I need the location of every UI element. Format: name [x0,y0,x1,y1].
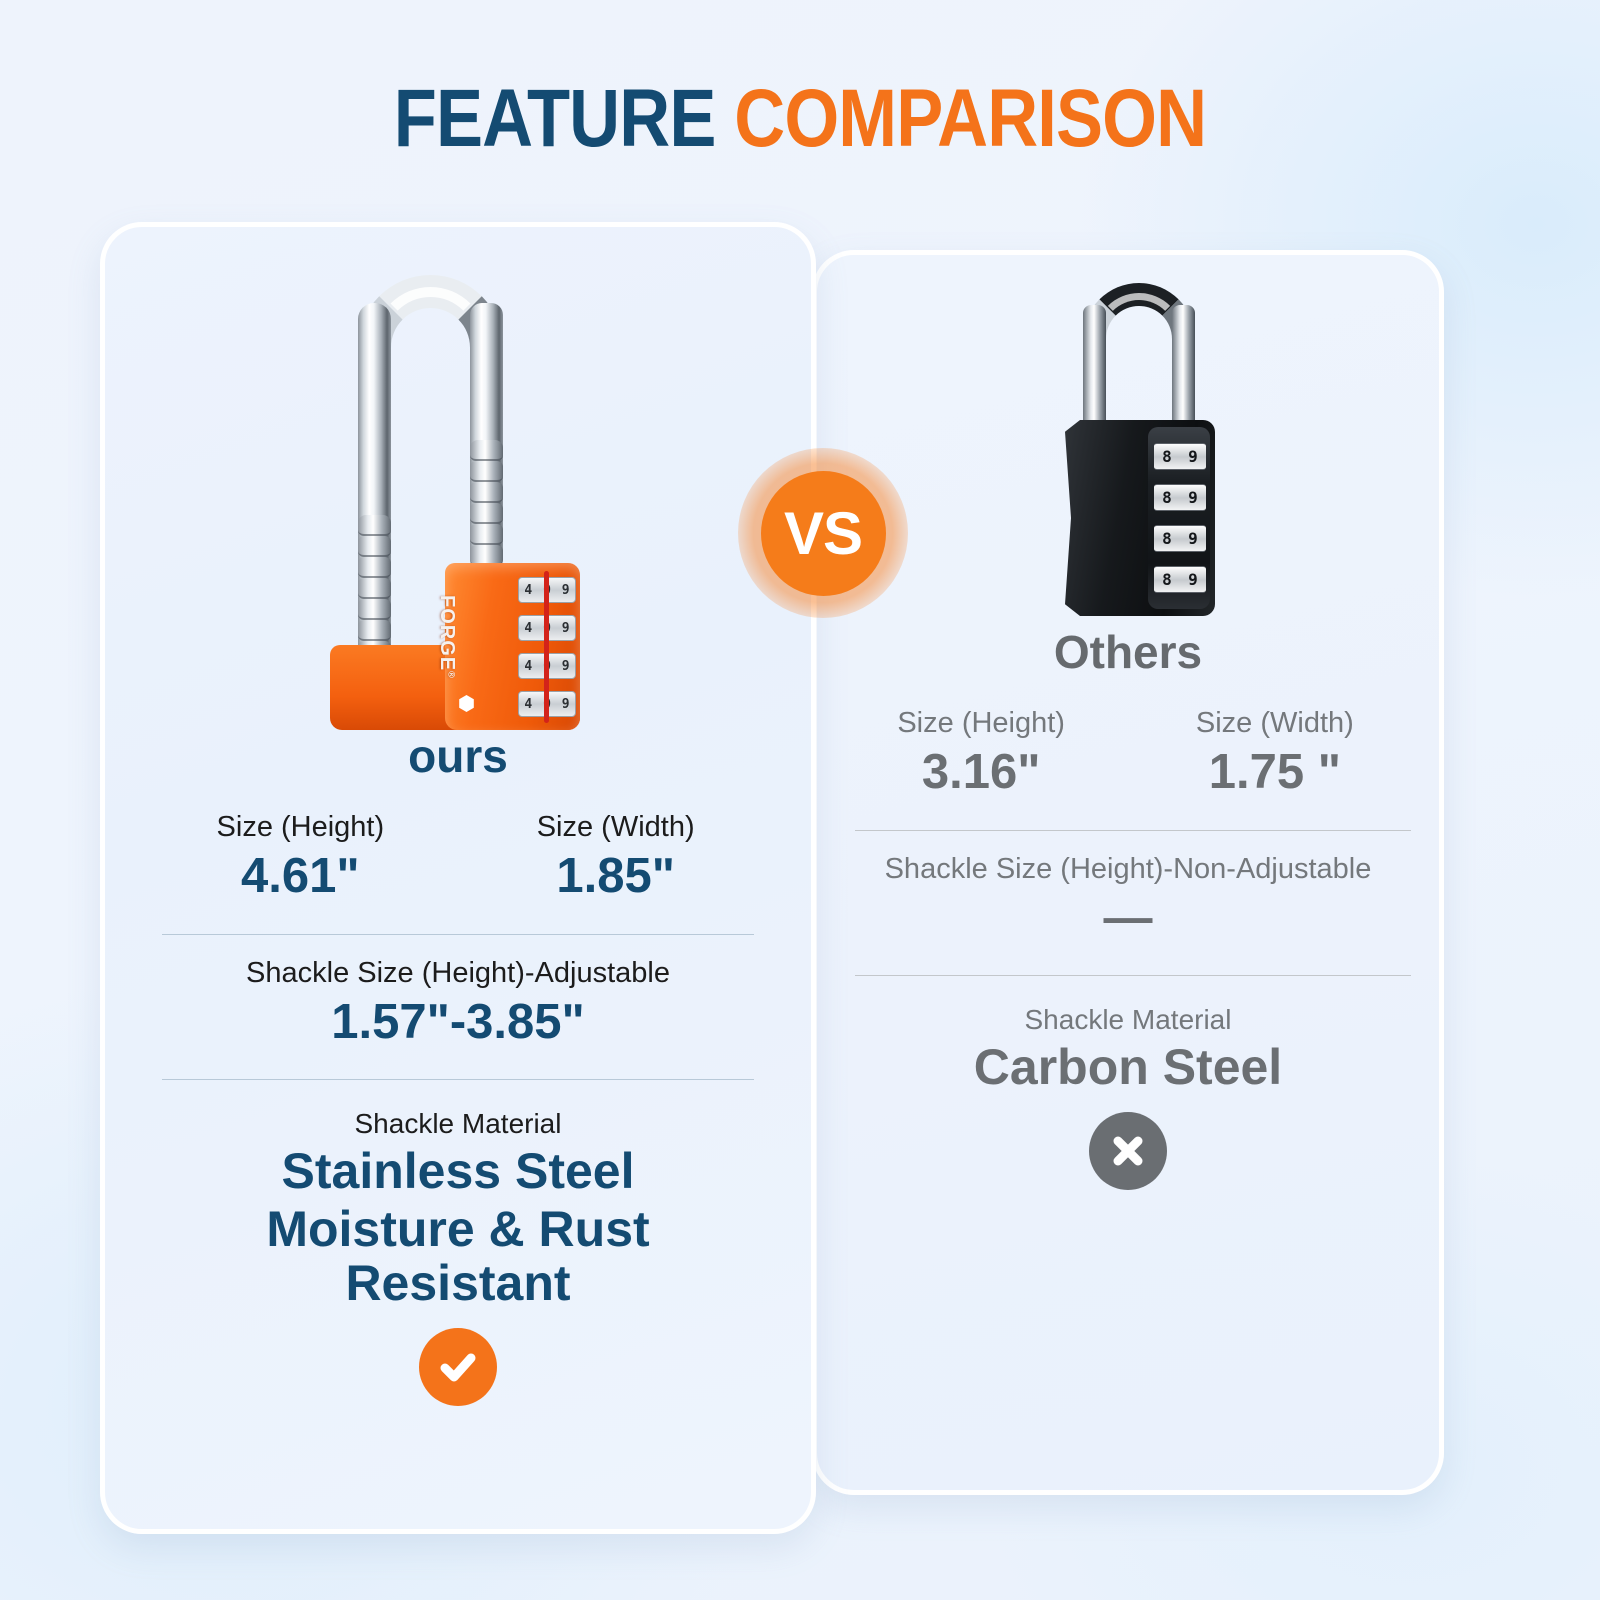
dial-digit: 9 [1188,570,1198,589]
others-shackle-size: Shackle Size (Height)-Non-Adjustable — [855,853,1401,950]
dial: 89 [1154,443,1206,470]
spec-value: 3.16" [858,742,1104,803]
registered-mark: ® [447,671,457,679]
dial-digit: 9 [562,697,570,712]
spec-value: 1.57"-3.85" [161,992,755,1053]
black-padlock-illustration: 89 89 89 89 [1050,275,1230,620]
dial-digit: 9 [1188,447,1198,466]
dial-digit: 9 [562,659,570,674]
ours-size-row: Size (Height) 4.61" Size (Width) 1.85" [161,811,755,908]
dial-digit: 9 [562,621,570,636]
spec-value: Stainless Steel [161,1144,755,1198]
dial: 89 [1154,484,1206,511]
dial-digit: 8 [1162,529,1172,548]
dial-index-line [544,571,549,723]
dial-digit: 9 [562,583,570,598]
spec-label: Size (Height) [858,707,1104,740]
cross-mark-icon [1089,1112,1167,1190]
dial-digit: 9 [1188,529,1198,548]
spec-label: Shackle Size (Height)-Adjustable [161,957,755,990]
spec-label: Size (Width) [482,811,749,844]
dial-digit: 4 [524,583,532,598]
spec-value: 1.75 " [1152,742,1398,803]
divider [855,975,1411,976]
vs-label: VS [784,499,862,568]
vs-badge-circle: VS [761,471,886,596]
dial-digit: 9 [1188,488,1198,507]
product-image-others: 89 89 89 89 [817,255,1439,625]
dial: 89 [1154,566,1206,593]
black-lock-combination-dials: 89 89 89 89 [1154,443,1206,593]
spec-label: Shackle Material [855,1004,1401,1036]
forge-brand-logo: FORGE® [435,595,458,679]
others-size-width: Size (Width) 1.75 " [1152,707,1398,804]
divider [855,830,1411,831]
dial-digit: 8 [1162,570,1172,589]
dial-digit: 8 [1162,488,1172,507]
spec-value: 1.85" [482,846,749,907]
shackle-right-threads [470,440,503,570]
divider [162,1079,754,1080]
others-product-name: Others [855,629,1401,675]
page-title: FEATURE COMPARISON [112,78,1488,160]
ours-shackle-material: Shackle Material Stainless Steel Moistur… [161,1108,755,1310]
black-shackle-right-leg [1172,305,1195,430]
divider [162,934,754,935]
ours-size-height: Size (Height) 4.61" [167,811,434,908]
ours-shackle-size: Shackle Size (Height)-Adjustable 1.57"-3… [161,957,755,1054]
ours-spec-section: ours Size (Height) 4.61" Size (Width) 1.… [105,733,811,1406]
spec-value: Carbon Steel [855,1040,1401,1094]
brand-text: FORGE [436,595,458,671]
others-size-height: Size (Height) 3.16" [858,707,1104,804]
product-image-ours: FORGE® 409 409 409 409 [105,227,811,727]
others-shackle-material: Shackle Material Carbon Steel [855,1004,1401,1094]
dial-digit: 4 [524,621,532,636]
spec-label: Size (Height) [167,811,434,844]
vs-badge: VS [738,448,908,618]
dial-digit: 4 [524,659,532,674]
comparison-card-others: 89 89 89 89 Others Size (Height) 3.16" S… [812,250,1444,1495]
dial: 89 [1154,525,1206,552]
dial-digit: 8 [1162,447,1172,466]
comparison-card-ours: FORGE® 409 409 409 409 ours Size (Height… [100,222,816,1534]
black-shackle-left-leg [1083,305,1106,430]
page-title-part2: COMPARISON [734,73,1206,164]
spec-label: Size (Width) [1152,707,1398,740]
ours-size-width: Size (Width) 1.85" [482,811,749,908]
spec-label: Shackle Size (Height)-Non-Adjustable [855,853,1401,886]
others-size-row: Size (Height) 3.16" Size (Width) 1.75 " [855,707,1401,804]
dial-digit: 4 [524,697,532,712]
others-spec-section: Others Size (Height) 3.16" Size (Width) … [817,629,1439,1190]
ours-product-name: ours [161,733,755,779]
orange-padlock-illustration: FORGE® 409 409 409 409 [330,265,630,730]
check-mark-icon [419,1328,497,1406]
spec-value: 4.61" [167,846,434,907]
spec-label: Shackle Material [161,1108,755,1140]
page-title-part1: FEATURE [394,73,716,164]
spec-value-secondary: Moisture & Rust Resistant [161,1202,755,1310]
spec-value: — [855,888,1401,949]
